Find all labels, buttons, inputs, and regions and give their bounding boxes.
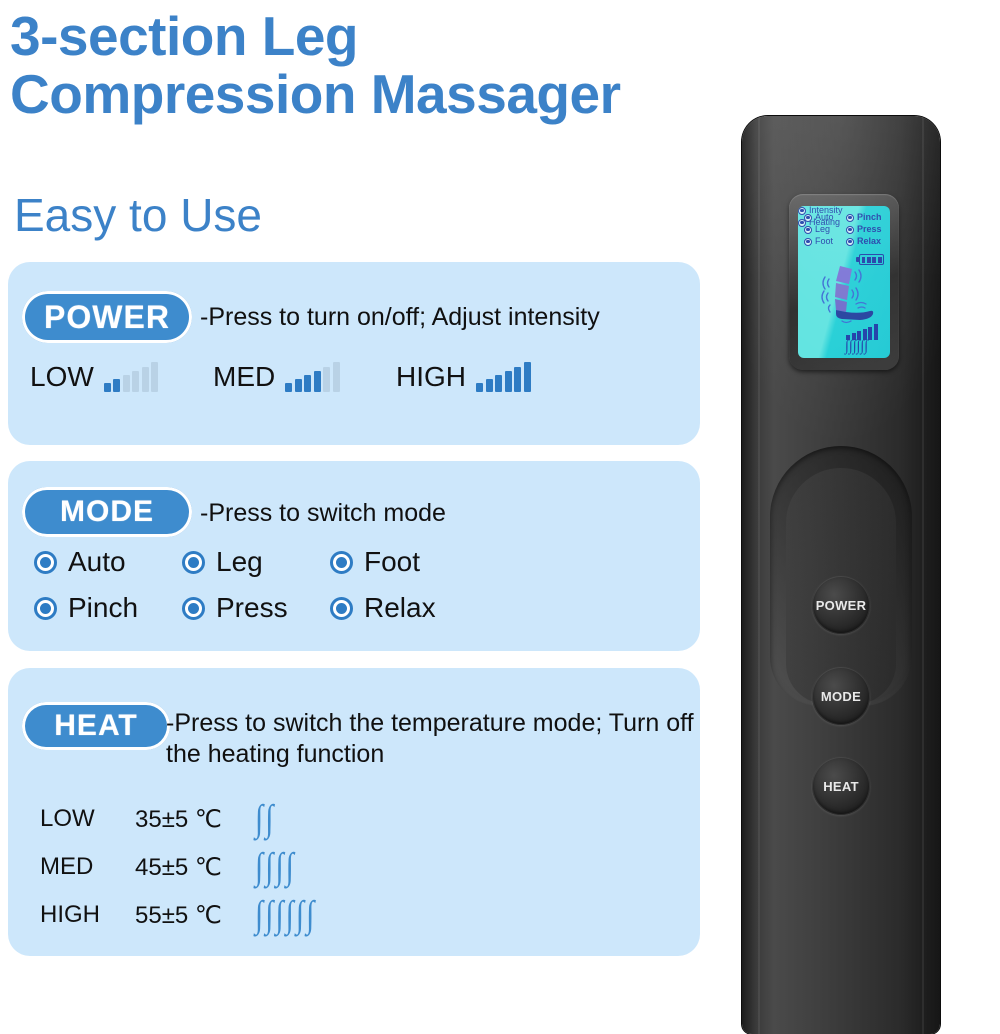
device-seam-left xyxy=(758,116,760,1034)
mode-option-relax[interactable]: Relax xyxy=(330,592,478,624)
radio-icon xyxy=(846,214,854,222)
radio-icon xyxy=(34,551,57,574)
intensity-level-med: MED xyxy=(213,362,340,392)
heat-description: -Press to switch the temperature mode; T… xyxy=(166,708,696,769)
heat-temperature-value: 45±5 ℃ xyxy=(135,853,255,882)
radio-icon xyxy=(846,226,854,234)
radio-icon xyxy=(182,597,205,620)
lcd-mode-label: Relax xyxy=(857,237,881,246)
lcd-mode-label: Auto xyxy=(815,213,834,222)
mode-option-label: Pinch xyxy=(68,592,138,624)
intensity-high-label: HIGH xyxy=(396,363,466,391)
heat-level-label: HIGH xyxy=(40,901,135,929)
heat-temperature-value: 55±5 ℃ xyxy=(135,901,255,930)
heat-temperature-table: LOW 35±5 ℃ ∫∫ MED 45±5 ℃ ∫∫∫∫ HIGH 55±5 … xyxy=(40,795,660,939)
mode-option-auto[interactable]: Auto xyxy=(34,546,182,578)
mode-option-label: Press xyxy=(216,592,288,624)
mode-option-leg[interactable]: Leg xyxy=(182,546,330,578)
intensity-med-label: MED xyxy=(213,363,275,391)
power-pill-label: POWER xyxy=(44,299,170,336)
radio-icon xyxy=(330,597,353,620)
heat-pill-label: HEAT xyxy=(54,709,137,743)
signal-bars-icon-med xyxy=(285,362,340,392)
heat-level-label: MED xyxy=(40,853,135,881)
heat-wave-icon-high: ∫∫∫∫∫∫ xyxy=(255,900,314,930)
mode-option-label: Auto xyxy=(68,546,126,578)
mode-options-row: Pinch Press Relax xyxy=(34,592,634,624)
signal-bars-icon-low xyxy=(104,362,159,392)
lcd-mode-label: Press xyxy=(857,225,882,234)
device-power-button[interactable]: POWER xyxy=(812,576,870,634)
heat-wave-icon-low: ∫∫ xyxy=(255,804,273,834)
device-seam-right xyxy=(922,116,924,1034)
lcd-mode-leg: Leg xyxy=(804,225,834,234)
mode-option-label: Leg xyxy=(216,546,263,578)
mode-pill-button[interactable]: MODE xyxy=(22,487,192,537)
device-power-button-label: POWER xyxy=(816,598,867,613)
radio-icon xyxy=(804,238,812,246)
page-title: 3-section Leg Compression Massager xyxy=(10,8,710,124)
lcd-mode-label: Foot xyxy=(815,237,833,246)
lcd-screen: Auto Leg Foot Pinch xyxy=(798,206,890,358)
section-subtitle: Easy to Use xyxy=(14,188,262,242)
mode-options-grid: Auto Leg Foot Pinch Press Relax xyxy=(34,546,634,638)
heat-row-med: MED 45±5 ℃ ∫∫∫∫ xyxy=(40,843,660,891)
radio-icon xyxy=(798,207,806,215)
screen-bezel: Auto Leg Foot Pinch xyxy=(789,194,899,370)
heat-row-low: LOW 35±5 ℃ ∫∫ xyxy=(40,795,660,843)
heat-level-label: LOW xyxy=(40,805,135,833)
heat-temperature-value: 35±5 ℃ xyxy=(135,805,255,834)
radio-icon xyxy=(330,551,353,574)
device-mode-button[interactable]: MODE xyxy=(812,667,870,725)
radio-icon xyxy=(34,597,57,620)
lcd-mode-label: Pinch xyxy=(857,213,882,222)
mode-option-press[interactable]: Press xyxy=(182,592,330,624)
mode-option-pinch[interactable]: Pinch xyxy=(34,592,182,624)
mode-pill-label: MODE xyxy=(60,495,154,529)
lcd-mode-auto: Auto xyxy=(804,213,834,222)
lcd-mode-pinch: Pinch xyxy=(846,213,882,222)
intensity-low-label: LOW xyxy=(30,363,94,391)
mode-option-label: Relax xyxy=(364,592,436,624)
power-card xyxy=(8,262,700,445)
radio-icon xyxy=(182,551,205,574)
mode-description: -Press to switch mode xyxy=(200,498,680,529)
lcd-mode-column-right: Pinch Press Relax xyxy=(846,213,882,249)
signal-bars-icon-high xyxy=(476,362,531,392)
mode-options-row: Auto Leg Foot xyxy=(34,546,634,578)
lcd-mode-label: Leg xyxy=(815,225,830,234)
radio-icon xyxy=(846,238,854,246)
leg-massage-graphic xyxy=(816,264,880,324)
device-heat-button[interactable]: HEAT xyxy=(812,757,870,815)
intensity-level-low: LOW xyxy=(30,362,158,392)
device-heat-button-label: HEAT xyxy=(823,779,859,794)
lcd-mode-press: Press xyxy=(846,225,882,234)
lcd-mode-foot: Foot xyxy=(804,237,834,246)
intensity-levels: LOW MED HIGH xyxy=(30,358,670,402)
lcd-mode-relax: Relax xyxy=(846,237,882,246)
radio-icon xyxy=(798,219,806,227)
mode-option-label: Foot xyxy=(364,546,420,578)
device-mode-button-label: MODE xyxy=(821,689,861,704)
mode-option-foot[interactable]: Foot xyxy=(330,546,478,578)
intensity-level-high: HIGH xyxy=(396,362,531,392)
controller-device: Auto Leg Foot Pinch xyxy=(742,116,940,1034)
lcd-heating-waves-icon: ∫∫∫∫∫∫ xyxy=(845,340,868,354)
heat-row-high: HIGH 55±5 ℃ ∫∫∫∫∫∫ xyxy=(40,891,660,939)
power-pill-button[interactable]: POWER xyxy=(22,291,192,343)
heat-pill-button[interactable]: HEAT xyxy=(22,702,170,750)
infographic-page: 3-section Leg Compression Massager Easy … xyxy=(0,0,1000,1034)
heat-wave-icon-med: ∫∫∫∫ xyxy=(255,852,294,882)
power-description: -Press to turn on/off; Adjust intensity xyxy=(200,302,700,333)
radio-icon xyxy=(804,226,812,234)
lcd-mode-column-left: Auto Leg Foot xyxy=(804,213,834,249)
